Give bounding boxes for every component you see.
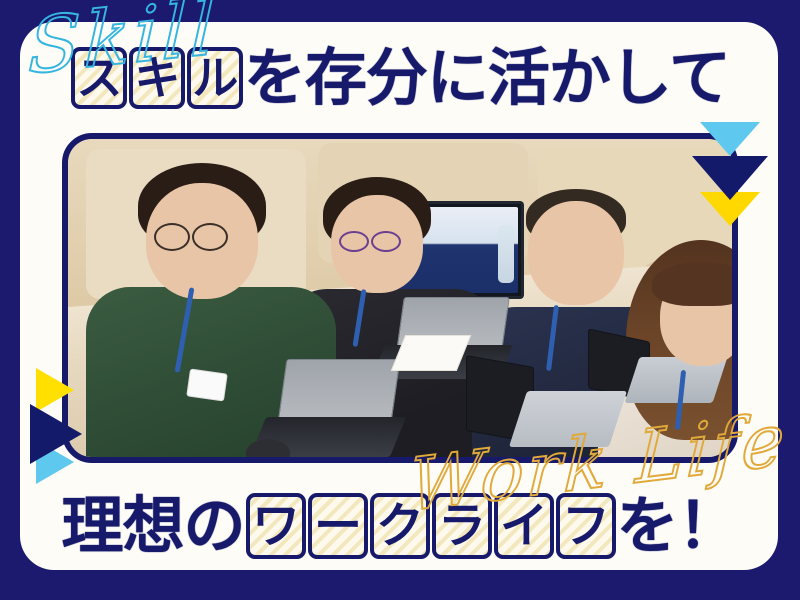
boxed-char-dash: ー	[308, 493, 368, 559]
triangle-navy-left	[30, 404, 82, 464]
glasses-right-lens	[371, 231, 401, 252]
boxed-char-fu: フ	[556, 493, 616, 559]
hair-fringe	[652, 262, 732, 306]
headline-bottom-suffix: を！	[617, 495, 739, 557]
headline-top: ス キ ル を存分に活かして	[0, 40, 800, 116]
headline-top-plain: を存分に活かして	[244, 47, 730, 109]
laptop-screen	[278, 359, 401, 423]
boxed-char-ru: ル	[187, 47, 243, 109]
boxed-char-su: ス	[71, 47, 127, 109]
boxed-char-ra: ラ	[432, 493, 492, 559]
boxed-char-wa: ワ	[246, 493, 306, 559]
boxed-char-ku: ク	[370, 493, 430, 559]
triangle-lightblue-right	[700, 122, 760, 156]
laptop	[466, 361, 596, 457]
glasses-left-lens	[339, 231, 369, 252]
poster-root: Skill ス キ ル を存分に活かして	[0, 0, 800, 600]
id-badge	[186, 368, 228, 401]
boxed-char-ki: キ	[129, 47, 185, 109]
boxed-char-i: イ	[494, 493, 554, 559]
glasses-right-lens	[192, 223, 228, 251]
team-photo	[68, 139, 732, 457]
laptop-keyboard	[509, 391, 627, 447]
triangle-navy-right	[692, 156, 768, 200]
glasses-left-lens	[154, 223, 190, 251]
headline-bottom-prefix: 理想の	[61, 495, 244, 557]
team-photo-frame	[62, 133, 738, 463]
headline-bottom: 理想の ワ ー ク ラ イ フ を！	[0, 486, 800, 566]
